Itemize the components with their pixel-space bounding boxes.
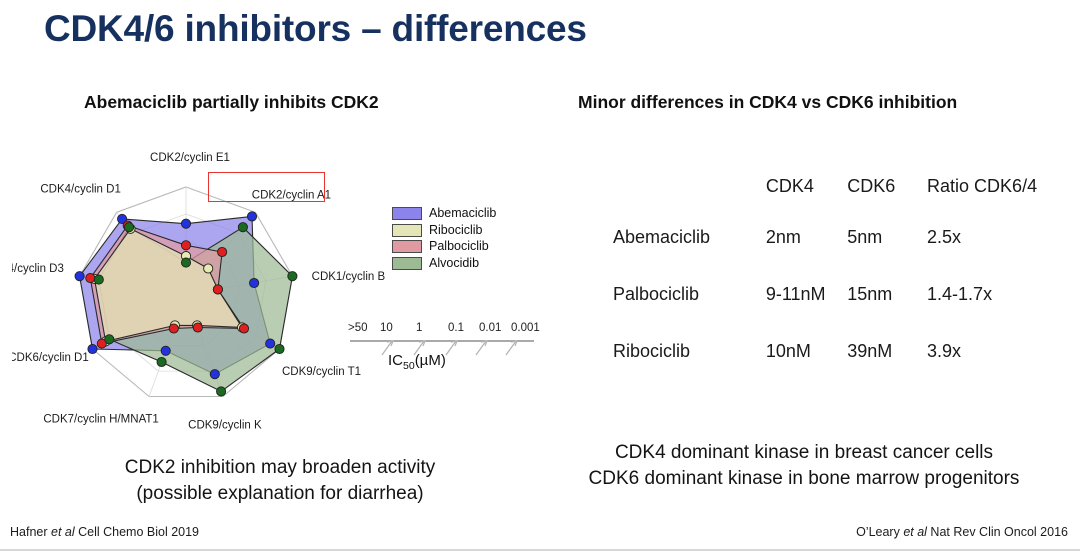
table-header: CDK4 CDK6 Ratio CDK6/4	[613, 176, 1080, 227]
slide-root: CDK4/6 inhibitors – differences Abemacic…	[0, 0, 1080, 551]
radar-point-palbociclib-0	[181, 241, 190, 250]
table-row: Palbociclib 9-11nM 15nm 1.4-1.7x	[613, 284, 1080, 341]
cdk2-cyclin-e1-highlight-box	[208, 172, 325, 202]
radar-point-alvocidib-4	[217, 387, 226, 396]
radar-point-alvocidib-5	[157, 357, 166, 366]
legend-item-abemaciclib: Abemaciclib	[392, 206, 496, 222]
cell-cdk4: 9-11nM	[766, 284, 847, 341]
ic50-axis-caption: IC50(µM)	[388, 352, 446, 372]
cell-drug: Palbociclib	[613, 284, 766, 341]
left-panel-heading: Abemaciclib partially inhibits CDK2	[84, 92, 379, 113]
table-body: Abemaciclib 2nm 5nm 2.5x Palbociclib 9-1…	[613, 227, 1080, 362]
radar-axis-label-6: CDK6/cyclin D1	[12, 352, 89, 364]
right-panel-caption: CDK4 dominant kinase in breast cancer ce…	[548, 440, 1060, 492]
table-header-row: CDK4 CDK6 Ratio CDK6/4	[613, 176, 1080, 227]
legend-label-ribociclib: Ribociclib	[429, 223, 483, 239]
radar-point-alvocidib-0	[181, 258, 190, 267]
radar-point-abemaciclib-1	[247, 212, 256, 221]
radar-point-alvocidib-8	[125, 223, 134, 232]
cell-drug: Ribociclib	[613, 341, 766, 362]
legend-item-ribociclib: Ribociclib	[392, 223, 496, 239]
radar-point-abemaciclib-0	[181, 219, 190, 228]
ic50-tick-0: >50	[348, 322, 368, 334]
radar-point-alvocidib-6	[105, 335, 114, 344]
column-header-ratio: Ratio CDK6/4	[927, 176, 1080, 227]
column-header-drug	[613, 176, 766, 227]
cell-cdk6: 15nm	[847, 284, 927, 341]
radar-point-ribociclib-1	[204, 264, 213, 273]
right-reference-source: Nat Rev Clin Oncol 2016	[927, 525, 1068, 539]
radar-axis-label-2: CDK1/cyclin B	[312, 271, 386, 283]
page-title: CDK4/6 inhibitors – differences	[44, 8, 587, 50]
ic50-caption-sub: 50	[403, 360, 415, 372]
ic50-tick-4: 0.01	[479, 322, 501, 334]
cell-cdk6: 5nm	[847, 227, 927, 284]
legend-label-palbociclib: Palbociclib	[429, 239, 489, 255]
ic50-tick-2: 1	[416, 322, 422, 334]
left-caption-line2: (possible explanation for diarrhea)	[60, 481, 500, 507]
ic50-caption-main: IC	[388, 352, 403, 369]
legend-item-alvocidib: Alvocidib	[392, 256, 496, 272]
radar-point-alvocidib-1	[238, 223, 247, 232]
cell-drug: Abemaciclib	[613, 227, 766, 284]
cell-cdk6: 39nM	[847, 341, 927, 362]
right-reference: O’Leary et al Nat Rev Clin Oncol 2016	[856, 525, 1068, 539]
table-row: Ribociclib 10nM 39nM 3.9x	[613, 341, 1080, 362]
radar-point-alvocidib-2	[288, 272, 297, 281]
radar-point-palbociclib-4	[193, 323, 202, 332]
radar-axis-label-3: CDK9/cyclin T1	[282, 366, 361, 378]
radar-point-alvocidib-7	[94, 275, 103, 284]
radar-point-abemaciclib-4	[210, 370, 219, 379]
cell-ratio: 1.4-1.7x	[927, 284, 1080, 341]
radar-axis-label-8: CDK4/cyclin D1	[40, 183, 121, 195]
legend-swatch-palbociclib	[392, 240, 422, 253]
radar-point-abemaciclib-7	[75, 272, 84, 281]
left-reference-author: Hafner	[10, 525, 51, 539]
left-caption-line1: CDK2 inhibition may broaden activity	[60, 455, 500, 481]
cell-ratio: 3.9x	[927, 341, 1080, 362]
radar-point-abemaciclib-3	[266, 339, 275, 348]
left-reference-etal: et al	[51, 525, 75, 539]
column-header-cdk6: CDK6	[847, 176, 927, 227]
right-reference-author: O’Leary	[856, 525, 903, 539]
table-row: Abemaciclib 2nm 5nm 2.5x	[613, 227, 1080, 284]
column-header-cdk4: CDK4	[766, 176, 847, 227]
legend-item-palbociclib: Palbociclib	[392, 239, 496, 255]
left-reference: Hafner et al Cell Chemo Biol 2019	[10, 525, 199, 539]
radar-point-palbociclib-1	[218, 247, 227, 256]
radar-point-palbociclib-7	[86, 274, 95, 283]
ic50-tick-3: 0.1	[448, 322, 464, 334]
radar-axis-label-0: CDK2/cyclin E1	[150, 152, 230, 164]
radar-point-abemaciclib-5	[161, 346, 170, 355]
cdk-comparison-table: CDK4 CDK6 Ratio CDK6/4 Abemaciclib 2nm 5…	[613, 176, 1080, 362]
ic50-tick-labels: >501010.10.010.001	[348, 322, 538, 337]
cell-ratio: 2.5x	[927, 227, 1080, 284]
legend-swatch-alvocidib	[392, 257, 422, 270]
legend-label-alvocidib: Alvocidib	[429, 256, 479, 272]
legend-swatch-ribociclib	[392, 224, 422, 237]
radar-point-palbociclib-2	[213, 285, 222, 294]
radar-axis-label-5: CDK7/cyclin H/MNAT1	[43, 414, 158, 426]
cell-cdk4: 2nm	[766, 227, 847, 284]
radar-point-palbociclib-5	[169, 324, 178, 333]
legend-label-abemaciclib: Abemaciclib	[429, 206, 496, 222]
radar-axis-label-7: CDK4/cyclin D3	[12, 263, 64, 275]
ic50-tick-5: 0.001	[511, 322, 540, 334]
radar-point-abemaciclib-2	[250, 278, 259, 287]
cell-cdk4: 10nM	[766, 341, 847, 362]
radar-axis-label-4: CDK9/cyclin K	[188, 420, 262, 432]
legend-swatch-abemaciclib	[392, 207, 422, 220]
radar-legend: Abemaciclib Ribociclib Palbociclib Alvoc…	[392, 206, 496, 272]
left-reference-source: Cell Chemo Biol 2019	[75, 525, 199, 539]
right-caption-line1: CDK4 dominant kinase in breast cancer ce…	[548, 440, 1060, 466]
ic50-caption-unit: (µM)	[415, 352, 446, 369]
right-reference-etal: et al	[903, 525, 927, 539]
radar-point-palbociclib-3	[239, 324, 248, 333]
left-panel-caption: CDK2 inhibition may broaden activity (po…	[60, 455, 500, 507]
ic50-tick-1: 10	[380, 322, 393, 334]
right-caption-line2: CDK6 dominant kinase in bone marrow prog…	[548, 466, 1060, 492]
radar-point-alvocidib-3	[275, 344, 284, 353]
radar-point-abemaciclib-6	[88, 344, 97, 353]
right-panel-heading: Minor differences in CDK4 vs CDK6 inhibi…	[578, 92, 957, 113]
